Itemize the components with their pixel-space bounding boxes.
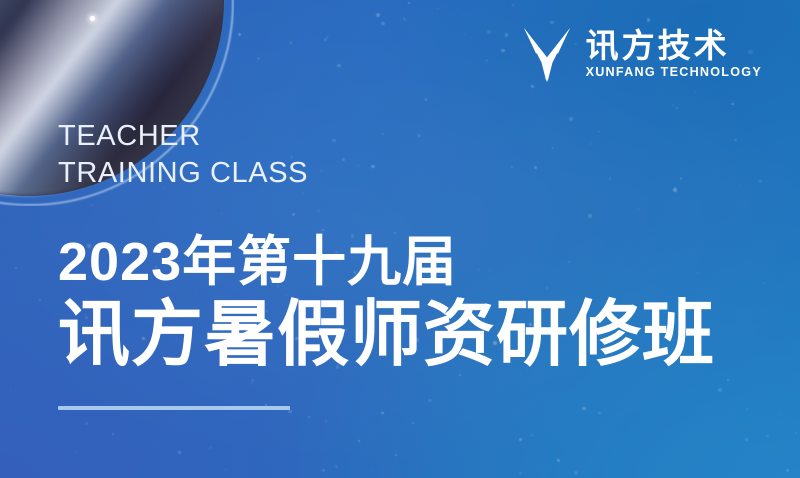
brand-logo-text: 讯方技术 XUNFANG TECHNOLOGY [586,29,762,81]
banner-headline-line-1: 2023年第十九届 [58,233,758,292]
brand-name-cn: 讯方技术 [586,29,730,63]
accent-rule [58,406,290,410]
xunfang-x-mark-icon [520,26,574,84]
promo-banner: 讯方技术 XUNFANG TECHNOLOGY TEACHER TRAINING… [0,0,800,478]
star-sparkle-icon [90,16,95,21]
banner-headline-line-2: 讯方暑假师资研修班 [58,296,758,375]
banner-eyebrow: TEACHER TRAINING CLASS [58,118,320,192]
banner-copy: TEACHER TRAINING CLASS 2023年第十九届 讯方暑假师资研… [58,118,758,410]
brand-logo: 讯方技术 XUNFANG TECHNOLOGY [520,26,762,84]
brand-name-en: XUNFANG TECHNOLOGY [586,65,762,81]
